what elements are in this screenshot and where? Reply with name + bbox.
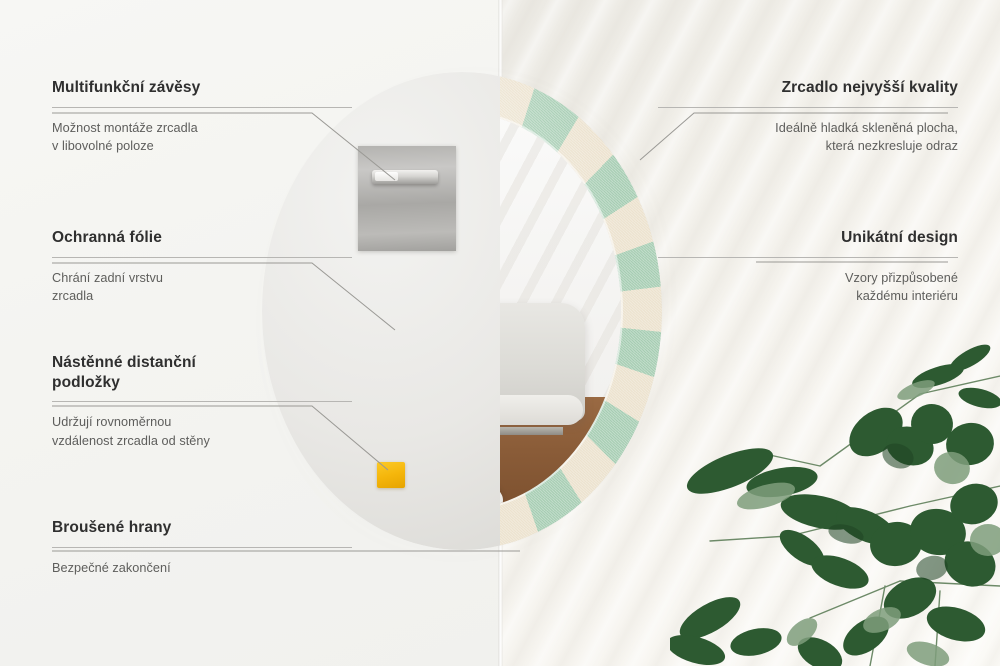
callout-description-line: Vzory přizpůsobené bbox=[658, 269, 958, 288]
infographic-canvas: Multifunkční závěsy Možnost montáže zrca… bbox=[0, 0, 1000, 666]
callout-rule bbox=[658, 107, 958, 108]
callout-title: Multifunkční závěsy bbox=[52, 78, 352, 98]
callout-multifunctional-hangers: Multifunkční závěsy Možnost montáže zrca… bbox=[52, 78, 352, 156]
callout-rule bbox=[52, 547, 352, 548]
callout-description-line: která nezkresluje odraz bbox=[658, 137, 958, 156]
callout-title: Nástěnné distanční podložky bbox=[52, 353, 352, 392]
callout-description-line: v libovolné poloze bbox=[52, 137, 352, 156]
callout-description: Vzory přizpůsobené každému interiéru bbox=[658, 269, 958, 307]
callout-title: Ochranná fólie bbox=[52, 228, 352, 248]
callout-description-line: vzdálenost zrcadla od stěny bbox=[52, 432, 352, 451]
callout-description: Udržují rovnoměrnou vzdálenost zrcadla o… bbox=[52, 413, 352, 451]
callout-description: Ideálně hladká skleněná plocha, která ne… bbox=[658, 119, 958, 157]
callout-title-line: Nástěnné distanční bbox=[52, 353, 352, 373]
callout-description-line: Chrání zadní vrstvu bbox=[52, 269, 352, 288]
callout-protective-foil: Ochranná fólie Chrání zadní vrstvu zrcad… bbox=[52, 228, 352, 306]
callout-title: Zrcadlo nejvyšší kvality bbox=[658, 78, 958, 98]
callout-polished-edges: Broušené hrany Bezpečné zakončení bbox=[52, 518, 352, 577]
callout-description-line: Možnost montáže zrcadla bbox=[52, 119, 352, 138]
callout-unique-design: Unikátní design Vzory přizpůsobené každé… bbox=[658, 228, 958, 306]
callout-description-line: Ideálně hladká skleněná plocha, bbox=[658, 119, 958, 138]
callout-top-quality-mirror: Zrcadlo nejvyšší kvality Ideálně hladká … bbox=[658, 78, 958, 156]
callout-title: Unikátní design bbox=[658, 228, 958, 248]
callout-title-line: podložky bbox=[52, 373, 352, 393]
hanger-plate bbox=[358, 146, 456, 251]
callout-description-line: zrcadla bbox=[52, 287, 352, 306]
hanger-bracket bbox=[372, 170, 438, 184]
callout-description-line: Udržují rovnoměrnou bbox=[52, 413, 352, 432]
callout-rule bbox=[658, 257, 958, 258]
callout-rule bbox=[52, 257, 352, 258]
callout-description-line: každému interiéru bbox=[658, 287, 958, 306]
callout-description-line: Bezpečné zakončení bbox=[52, 559, 352, 578]
yellow-spacer-pad bbox=[377, 462, 405, 488]
callout-description: Chrání zadní vrstvu zrcadla bbox=[52, 269, 352, 307]
callout-wall-spacers: Nástěnné distanční podložky Udržují rovn… bbox=[52, 353, 352, 451]
callout-description: Možnost montáže zrcadla v libovolné polo… bbox=[52, 119, 352, 157]
callout-rule bbox=[52, 107, 352, 108]
hanger-slot bbox=[375, 172, 398, 181]
callout-description: Bezpečné zakončení bbox=[52, 559, 352, 578]
callout-rule bbox=[52, 401, 352, 402]
callout-title: Broušené hrany bbox=[52, 518, 352, 538]
plant-decoration bbox=[670, 336, 1000, 666]
